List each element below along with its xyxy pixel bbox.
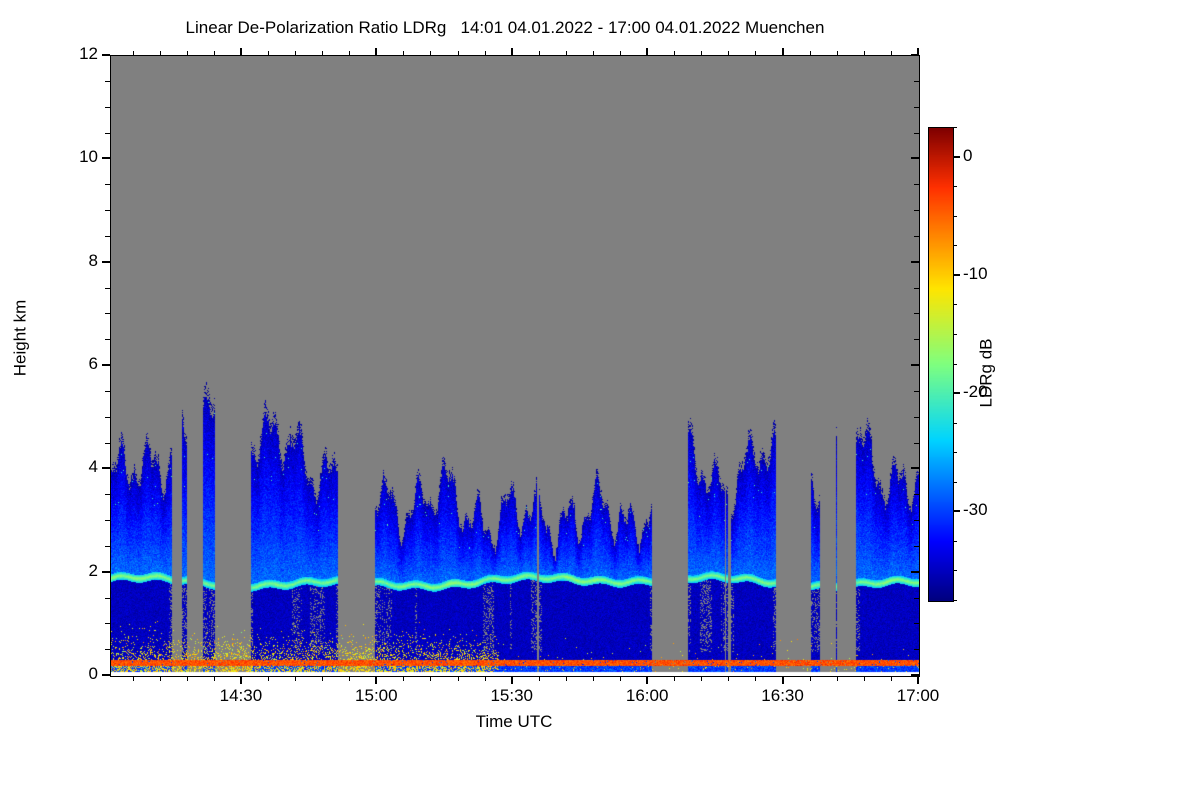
y-axis-tick [102, 674, 110, 676]
colorbar-minor-tick [953, 570, 957, 571]
y-axis-minor-tick-right [914, 598, 919, 599]
y-axis-minor-tick-right [914, 649, 919, 650]
x-axis-minor-tick [810, 676, 811, 681]
y-axis-minor-tick-right [914, 339, 919, 340]
x-axis-minor-tick-top [837, 51, 838, 56]
x-axis-minor-tick-top [728, 51, 729, 56]
x-axis-tick [782, 676, 784, 684]
y-axis-minor-tick-right [914, 288, 919, 289]
x-axis-minor-tick [268, 676, 269, 681]
y-axis-minor-tick-right [914, 210, 919, 211]
colorbar-minor-tick [953, 186, 957, 187]
y-axis-tick-label: 0 [60, 664, 98, 684]
y-axis-minor-tick [105, 649, 110, 650]
y-axis-minor-tick [105, 417, 110, 418]
y-axis-minor-tick-right [914, 494, 919, 495]
y-axis-minor-tick [105, 236, 110, 237]
y-axis-minor-tick [105, 391, 110, 392]
x-axis-tick-top [917, 48, 919, 56]
colorbar-minor-tick [953, 482, 957, 483]
x-axis-tick [375, 676, 377, 684]
x-axis-minor-tick-top [593, 51, 594, 56]
x-axis-minor-tick [295, 676, 296, 681]
y-axis-minor-tick [105, 288, 110, 289]
x-axis-minor-tick [133, 676, 134, 681]
x-axis-minor-tick-top [349, 51, 350, 56]
colorbar-minor-tick [953, 541, 957, 542]
x-axis-minor-tick-top [160, 51, 161, 56]
colorbar-minor-tick [953, 216, 957, 217]
y-axis-minor-tick [105, 313, 110, 314]
x-axis-minor-tick-top [268, 51, 269, 56]
y-axis-minor-tick [105, 494, 110, 495]
colorbar-tick [953, 510, 960, 512]
x-axis-tick [646, 676, 648, 684]
y-axis-minor-tick [105, 623, 110, 624]
x-axis-minor-tick [430, 676, 431, 681]
y-axis-minor-tick-right [914, 520, 919, 521]
x-axis-minor-tick [674, 676, 675, 681]
x-axis-minor-tick [837, 676, 838, 681]
colorbar-tick-label: -20 [963, 382, 988, 402]
x-axis-tick-top [646, 48, 648, 56]
y-axis-minor-tick-right [914, 391, 919, 392]
x-axis-minor-tick [187, 676, 188, 681]
x-axis-minor-tick [485, 676, 486, 681]
colorbar-tick [953, 156, 960, 158]
colorbar-gradient[interactable] [928, 127, 954, 602]
y-axis-minor-tick-right [914, 236, 919, 237]
x-axis-tick-top [240, 48, 242, 56]
y-axis-minor-tick-right [914, 443, 919, 444]
x-axis-minor-tick [755, 676, 756, 681]
x-axis-minor-tick [160, 676, 161, 681]
page-title: Linear De-Polarization Ratio LDRg 14:01 … [0, 18, 1010, 38]
y-axis-minor-tick-right [914, 107, 919, 108]
colorbar-minor-tick [953, 364, 957, 365]
x-axis-tick-label: 16:00 [602, 686, 692, 706]
x-axis-minor-tick-top [891, 51, 892, 56]
x-axis-tick-label: 14:30 [196, 686, 286, 706]
colorbar-minor-tick [953, 452, 957, 453]
y-axis-minor-tick [105, 598, 110, 599]
colorbar-tick-label: -30 [963, 500, 988, 520]
colorbar-minor-tick [953, 334, 957, 335]
x-axis-minor-tick-top [133, 51, 134, 56]
x-axis-minor-tick-top [620, 51, 621, 56]
colorbar-minor-tick [953, 423, 957, 424]
colorbar[interactable] [928, 127, 952, 600]
colorbar-tick-label: -10 [963, 264, 988, 284]
y-axis-tick-label: 2 [60, 561, 98, 581]
y-axis-minor-tick [105, 210, 110, 211]
x-axis-minor-tick [566, 676, 567, 681]
x-axis-minor-tick [620, 676, 621, 681]
colorbar-tick [953, 274, 960, 276]
y-axis-minor-tick [105, 184, 110, 185]
x-axis-label: Time UTC [110, 712, 918, 732]
y-axis-tick-label: 6 [60, 354, 98, 374]
x-axis-tick-label: 15:30 [467, 686, 557, 706]
ldr-heatmap-canvas[interactable] [111, 56, 919, 676]
y-axis-minor-tick-right [914, 313, 919, 314]
x-axis-minor-tick-top [403, 51, 404, 56]
y-axis-tick [102, 157, 110, 159]
y-axis-minor-tick-right [914, 417, 919, 418]
y-axis-minor-tick [105, 339, 110, 340]
x-axis-minor-tick-top [864, 51, 865, 56]
x-axis-minor-tick-top [755, 51, 756, 56]
x-axis-tick [240, 676, 242, 684]
x-axis-minor-tick-top [566, 51, 567, 56]
radar-figure: Linear De-Polarization Ratio LDRg 14:01 … [0, 0, 1200, 800]
x-axis-minor-tick-top [214, 51, 215, 56]
x-axis-minor-tick [322, 676, 323, 681]
x-axis-minor-tick [701, 676, 702, 681]
x-axis-tick-top [782, 48, 784, 56]
x-axis-minor-tick [403, 676, 404, 681]
y-axis-label: Height km [10, 300, 30, 377]
x-axis-tick-label: 15:00 [331, 686, 421, 706]
x-axis-minor-tick-top [485, 51, 486, 56]
x-axis-minor-tick [593, 676, 594, 681]
x-axis-tick [917, 676, 919, 684]
x-axis-minor-tick [864, 676, 865, 681]
plot-area[interactable] [110, 55, 920, 677]
colorbar-tick-label: 0 [963, 146, 972, 166]
x-axis-minor-tick [458, 676, 459, 681]
x-axis-minor-tick [891, 676, 892, 681]
colorbar-minor-tick [953, 127, 957, 128]
y-axis-tick [102, 54, 110, 56]
x-axis-minor-tick-top [322, 51, 323, 56]
y-axis-tick-right [911, 467, 919, 469]
x-axis-minor-tick-top [674, 51, 675, 56]
y-axis-tick [102, 571, 110, 573]
y-axis-minor-tick [105, 107, 110, 108]
colorbar-minor-tick [953, 245, 957, 246]
y-axis-minor-tick-right [914, 546, 919, 547]
x-axis-tick-top [375, 48, 377, 56]
x-axis-minor-tick [539, 676, 540, 681]
x-axis-tick-label: 16:30 [738, 686, 828, 706]
y-axis-tick-right [911, 571, 919, 573]
x-axis-minor-tick-top [539, 51, 540, 56]
y-axis-minor-tick-right [914, 81, 919, 82]
x-axis-minor-tick-top [458, 51, 459, 56]
y-axis-minor-tick [105, 520, 110, 521]
y-axis-tick-right [911, 364, 919, 366]
y-axis-minor-tick-right [914, 184, 919, 185]
colorbar-minor-tick [953, 600, 957, 601]
y-axis-minor-tick [105, 81, 110, 82]
y-axis-tick [102, 467, 110, 469]
x-axis-minor-tick [349, 676, 350, 681]
x-axis-minor-tick-top [187, 51, 188, 56]
y-axis-tick-label: 12 [60, 44, 98, 64]
x-axis-minor-tick [214, 676, 215, 681]
x-axis-tick [511, 676, 513, 684]
y-axis-tick-label: 8 [60, 251, 98, 271]
colorbar-tick [953, 392, 960, 394]
x-axis-minor-tick-top [295, 51, 296, 56]
x-axis-minor-tick [728, 676, 729, 681]
x-axis-minor-tick-top [810, 51, 811, 56]
x-axis-minor-tick-top [701, 51, 702, 56]
y-axis-minor-tick [105, 443, 110, 444]
y-axis-tick-label: 4 [60, 457, 98, 477]
x-axis-minor-tick-top [430, 51, 431, 56]
x-axis-tick-label: 17:00 [873, 686, 963, 706]
x-axis-tick-top [511, 48, 513, 56]
y-axis-tick-label: 10 [60, 147, 98, 167]
y-axis-tick-right [911, 261, 919, 263]
y-axis-minor-tick [105, 546, 110, 547]
y-axis-minor-tick-right [914, 623, 919, 624]
y-axis-minor-tick-right [914, 133, 919, 134]
y-axis-tick [102, 261, 110, 263]
colorbar-minor-tick [953, 304, 957, 305]
y-axis-tick [102, 364, 110, 366]
y-axis-tick-right [911, 157, 919, 159]
y-axis-minor-tick [105, 133, 110, 134]
